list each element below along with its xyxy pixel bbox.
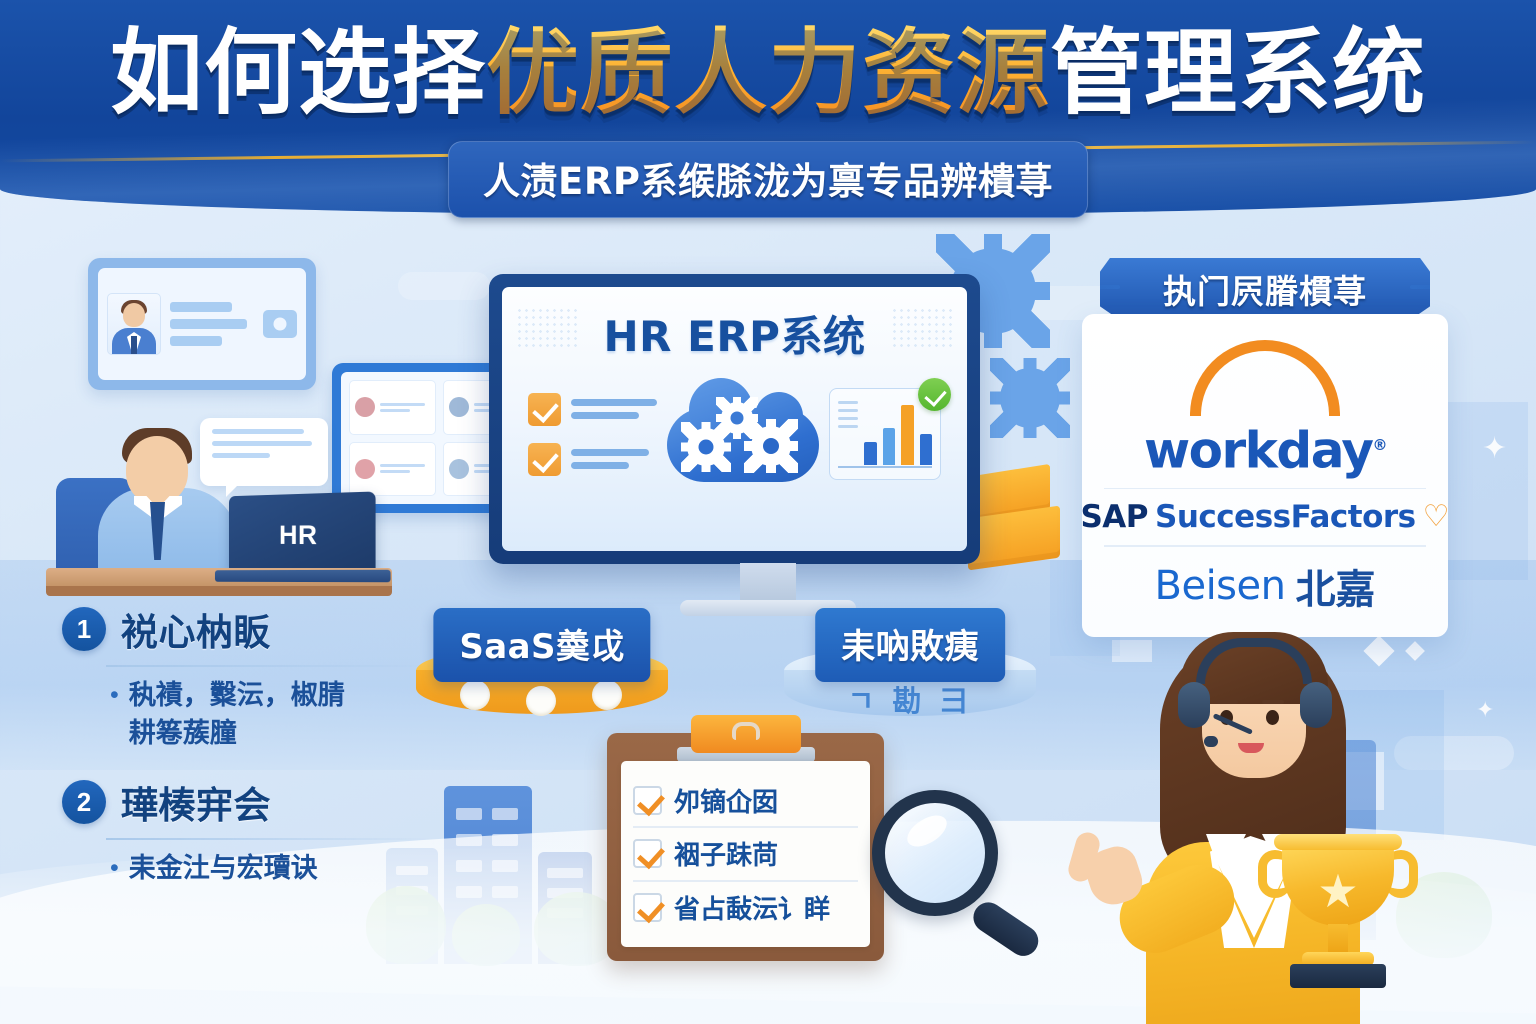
checklist-label: 裀子跊苘 [674,835,778,872]
sparkle-icon-1: ✦ [1482,434,1507,464]
pedestal-light [526,686,556,716]
trophy-stem [1328,924,1348,954]
eye-right [1266,710,1279,725]
magnifier-glint [902,809,952,853]
chart-bar [901,405,914,465]
divider [106,838,432,840]
chart-bar [864,442,877,465]
divider [1104,545,1426,547]
trophy-base-dark [1290,964,1386,988]
hr-manager-head [126,436,188,504]
heart-icon: ♡ [1423,502,1450,532]
hr-manager-illustration: HR [46,418,396,603]
star-icon: ★ [1317,868,1358,914]
bullet-dot-icon: • [110,677,119,715]
chart-bar [883,428,896,465]
pedestal-saas: SaaS羮戉 [398,608,686,728]
checklist-label: 省占敮沄讠眻 [674,889,830,926]
main-monitor: HR ERP系统 [489,274,980,564]
vendor-name-en: Beisen [1155,563,1286,609]
infographic-canvas: ✦ ✦ ✦ 如何选择优质人力资源管理系统 人渍ERP系缑脎泷为禀专品辨樻荨 [0,0,1536,1024]
checkbox-checked-icon [528,393,561,426]
list-item-title: 裞心枘眅 [121,602,271,656]
vendor-sap-successfactors[interactable]: SAP SuccessFactors ♡ [1104,499,1426,535]
divider [633,826,858,828]
title-part-1: 如何选择 [110,19,486,127]
checklist-row: 夘镝仚囡 [633,782,858,819]
vendor-name: workday® [1104,418,1426,478]
checkbox-checked-icon [633,786,662,815]
chart-axis [838,466,932,468]
checkbox-checked-icon [528,443,561,476]
gear-icon-small [1000,368,1060,428]
vendor-panel-title: 执门屄膡樌荨 [1163,265,1367,313]
vendor-name-cn: 北嘉 [1295,557,1375,615]
pedestal-deployment-label: 耒吶敗痍 [815,608,1005,682]
bar-chart-card [829,388,941,480]
photo-icon [263,310,297,338]
list-item: 1 裞心枘眅 • 秇襀，糳沄，椒腈 • 耕箞蔟膧 [62,602,432,753]
chart-legend [838,401,858,428]
checklist-row: 裀子跊苘 [633,835,858,872]
pedestal-light [592,680,622,710]
title-part-3: 管理系统 [1050,19,1426,127]
checklist-row [528,443,657,476]
pedestal-deployment: ㄱ 勘 彐 耒吶敗痍 [766,608,1054,728]
laptop-label: HR [279,519,317,550]
bullet-text: 耒金汢与宏瓄诀 [129,850,318,888]
gear-icon-3 [751,426,791,466]
bullet-dot-icon: • [110,850,119,888]
pedestal-deployment-sub: ㄱ 勘 彐 [848,678,973,720]
trophy-rim [1274,834,1402,850]
vendor-list-card: workday® SAP SuccessFactors ♡ Beisen 北嘉 [1082,314,1448,637]
headset-mic-tip [1204,736,1218,747]
cloud-gears-graphic [667,382,819,486]
bullet-item: • 耕箞蔟膧 [110,715,432,753]
chart-bar [920,434,933,465]
checklist-row [528,393,657,426]
employee-profile-card [88,258,316,390]
eyebrow-left [1216,700,1238,704]
magnifying-glass-icon [872,790,1047,965]
key-points-list: 1 裞心枘眅 • 秇襀，糳沄，椒腈 • 耕箞蔟膧 2 璍楱宑会 [62,602,432,910]
employee-avatar [107,293,161,355]
divider [106,665,432,667]
vendor-panel-banner: 执门屄膡樌荨 [1100,258,1430,320]
bullet-item: • 耒金汢与宏瓄诀 [110,850,432,888]
checkbox-checked-icon [633,893,662,922]
monitor-screen: HR ERP系统 [502,287,967,551]
list-item: 2 璍楱宑会 • 耒金汢与宏瓄诀 [62,775,432,888]
title-part-2: 优质人力资源 [486,19,1050,127]
vendor-workday[interactable]: workday® [1104,340,1426,478]
list-item-title: 璍楱宑会 [121,775,271,829]
registered-mark: ® [1373,436,1387,454]
vendor-panel: 执门屄膡樌荨 workday® SAP SuccessFactors ♡ Bei… [1082,258,1448,637]
page-subtitle: 人渍ERP系缑脎泷为禀专品辨樻荨 [483,160,1053,203]
checklist-group [528,393,657,476]
laptop-screen: HR [229,491,376,578]
vendor-name-sap: SAP [1080,499,1148,535]
bullet-text: 秇襀，糳沄，椒腈 [129,677,345,715]
divider [1104,488,1426,490]
dot-grid-right [891,307,953,349]
trophy-icon: ★ [1262,828,1414,1000]
desk-edge [46,586,392,596]
magnifier-handle [968,897,1044,962]
checklist-label: 夘镝仚囡 [674,782,778,819]
bullet-item: • 秇襀，糳沄，椒腈 [110,677,432,715]
pedestal-light [460,680,490,710]
monitor-content [502,369,967,499]
workday-arc-icon [1190,340,1340,416]
sparkle-icon-2: ✦ [1476,700,1494,722]
checklist-clipboard: 夘镝仚囡 裀子跊苘 省占敮沄讠眻 [607,733,884,961]
page-subtitle-pill: 人渍ERP系缑脎泷为禀专品辨樻荨 [448,141,1088,218]
magnifier-lens [872,790,998,916]
headset-earcup-right [1300,682,1332,728]
laptop-base [215,570,391,583]
list-number-badge: 1 [62,607,106,651]
vendor-name-successfactors: SuccessFactors [1155,499,1416,535]
vendor-beisen[interactable]: Beisen 北嘉 [1104,557,1426,615]
checklist-row: 省占敮沄讠眻 [633,889,858,926]
background-cloud-2 [398,272,490,300]
pedestal-saas-label: SaaS羮戉 [433,608,650,682]
bullet-text: 耕箞蔟膧 [129,715,237,753]
banner-wing-right [1410,285,1474,289]
page-title: 如何选择优质人力资源管理系统 [0,18,1536,128]
checkbox-checked-icon [633,839,662,868]
headset-earcup-left [1178,682,1210,728]
dot-grid-left [516,307,578,349]
list-number-badge: 2 [62,780,106,824]
clipboard-paper: 夘镝仚囡 裀子跊苘 省占敮沄讠眻 [621,761,870,947]
chart-bars [864,405,932,465]
clipboard-clamp [691,715,801,753]
divider [633,880,858,882]
monitor-title: HR ERP系统 [520,303,949,364]
eyebrow-right [1262,700,1284,704]
